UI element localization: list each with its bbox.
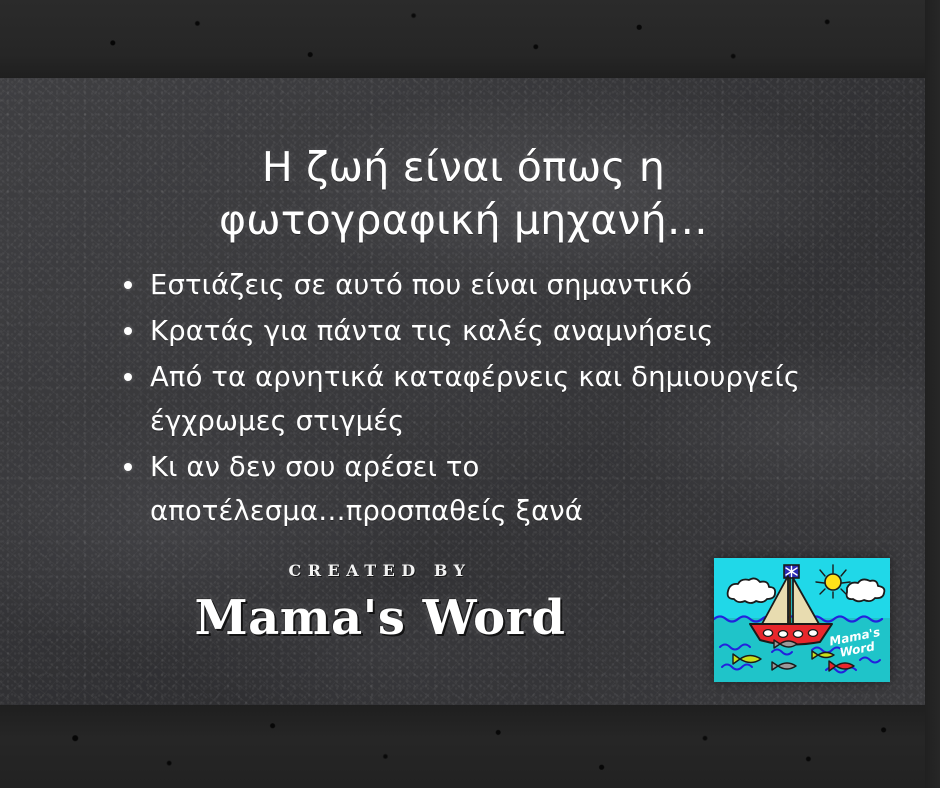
frame-border-bottom	[0, 705, 940, 788]
slide-content: Η ζωή είναι όπως η φωτογραφική μηχανή… Ε…	[0, 78, 927, 705]
title-line-2: φωτογραφική μηχανή…	[0, 194, 927, 246]
credit-block: Created by Mama's Word	[120, 561, 640, 646]
bullet-text: Κρατάς για πάντα τις καλές αναμνήσεις	[150, 309, 878, 353]
bullet-text-continuation: αποτέλεσμα…προσπαθείς ξανά	[150, 489, 878, 533]
bullet-dot-icon	[124, 463, 132, 471]
bullet-dot-icon	[124, 327, 132, 335]
bullet-text: Κι αν δεν σου αρέσει το	[150, 445, 878, 489]
list-item: Κρατάς για πάντα τις καλές αναμνήσεις	[118, 309, 878, 353]
bullet-text: Εστιάζεις σε αυτό που είναι σημαντικό	[150, 263, 878, 307]
boat-drawing-icon: Mama's Word	[714, 558, 890, 682]
list-item: Εστιάζεις σε αυτό που είναι σημαντικό	[118, 263, 878, 307]
frame-border-right	[925, 0, 940, 788]
slide-title: Η ζωή είναι όπως η φωτογραφική μηχανή…	[0, 141, 927, 246]
bullet-text: Από τα αρνητικά καταφέρνεις και δημιουργ…	[150, 355, 878, 399]
list-item: Από τα αρνητικά καταφέρνεις και δημιουργ…	[118, 355, 878, 443]
list-item: Κι αν δεν σου αρέσει το αποτέλεσμα…προσπ…	[118, 445, 878, 533]
bullet-list: Εστιάζεις σε αυτό που είναι σημαντικό Κρ…	[118, 263, 878, 535]
mamas-word-logo: Mama's Word	[714, 558, 890, 682]
brand-name: Mama's Word	[120, 590, 640, 646]
bullet-text-continuation: έγχρωμες στιγμές	[150, 399, 878, 443]
title-line-1: Η ζωή είναι όπως η	[0, 141, 927, 193]
slide-canvas: Η ζωή είναι όπως η φωτογραφική μηχανή… Ε…	[0, 0, 940, 788]
frame-border-top	[0, 0, 940, 78]
bullet-dot-icon	[124, 281, 132, 289]
bullet-dot-icon	[124, 373, 132, 381]
credit-kicker: Created by	[120, 561, 640, 580]
